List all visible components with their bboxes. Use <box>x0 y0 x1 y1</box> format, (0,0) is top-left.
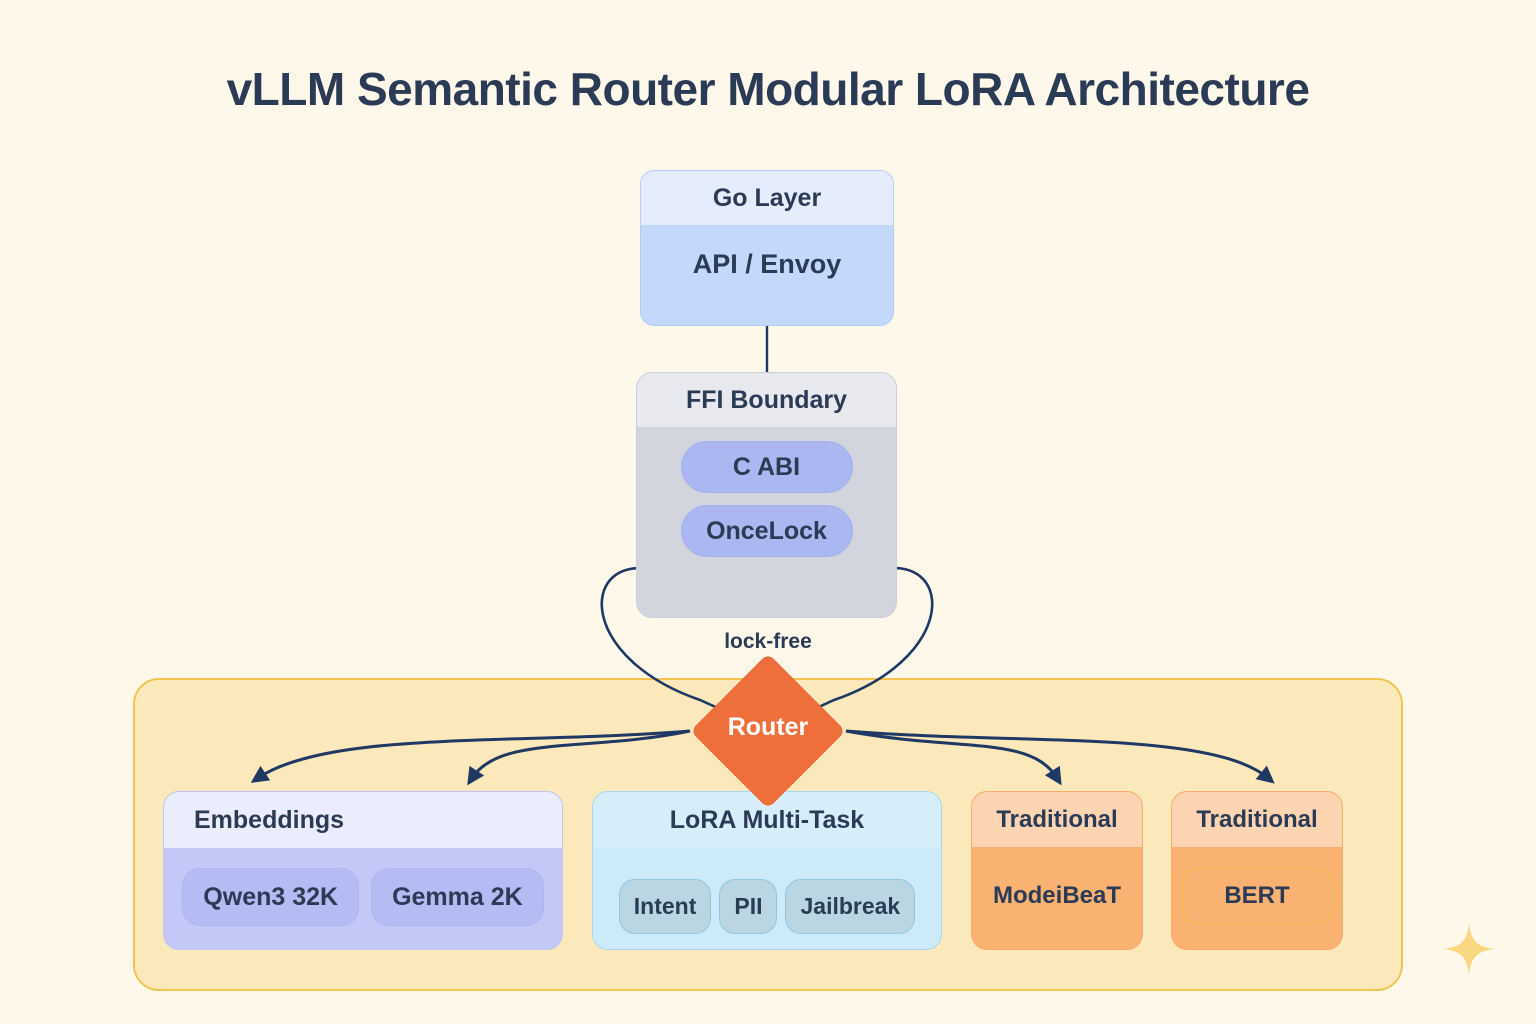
node-ffi-boundary[interactable]: FFI Boundary C ABI OnceLock <box>636 372 897 618</box>
group-traditional-1[interactable]: Traditional ModeiBeaT <box>971 791 1143 950</box>
node-router[interactable]: Router <box>684 675 852 787</box>
group-lora-multi-task[interactable]: LoRA Multi-Task Intent PII Jailbreak <box>592 791 942 950</box>
lora-item-pii[interactable]: PII <box>719 879 777 934</box>
lora-item-intent[interactable]: Intent <box>619 879 712 934</box>
ffi-boundary-header: FFI Boundary <box>637 373 896 427</box>
go-layer-header: Go Layer <box>641 171 893 225</box>
ffi-item-c-abi[interactable]: C ABI <box>681 441 853 493</box>
diagram-canvas: vLLM Semantic Router Modular LoRA Archit… <box>0 0 1536 1024</box>
traditional-2-items: BERT <box>1172 847 1342 945</box>
group-embeddings[interactable]: Embeddings Qwen3 32K Gemma 2K <box>163 791 563 950</box>
embeddings-item-qwen3[interactable]: Qwen3 32K <box>182 868 359 926</box>
page-title: vLLM Semantic Router Modular LoRA Archit… <box>0 62 1536 116</box>
group-traditional-2[interactable]: Traditional BERT <box>1171 791 1343 950</box>
traditional-1-items: ModeiBeaT <box>972 847 1142 945</box>
traditional-2-header: Traditional <box>1172 792 1342 847</box>
traditional-1-item-modeibeat[interactable]: ModeiBeaT <box>993 882 1121 910</box>
edge-label-lock-free: lock-free <box>0 630 1536 654</box>
router-label: Router <box>684 713 852 742</box>
ffi-boundary-items: C ABI OnceLock <box>637 427 896 557</box>
traditional-1-header: Traditional <box>972 792 1142 847</box>
embeddings-items: Qwen3 32K Gemma 2K <box>164 848 562 946</box>
sparkle-icon <box>1441 921 1497 977</box>
lora-items: Intent PII Jailbreak <box>593 848 941 946</box>
node-go-layer[interactable]: Go Layer API / Envoy <box>640 170 894 326</box>
ffi-item-oncelock[interactable]: OnceLock <box>681 505 853 557</box>
embeddings-item-gemma[interactable]: Gemma 2K <box>371 868 544 926</box>
traditional-2-item-bert[interactable]: BERT <box>1181 868 1334 924</box>
go-layer-body: API / Envoy <box>641 225 893 304</box>
lora-item-jailbreak[interactable]: Jailbreak <box>785 879 915 934</box>
embeddings-header: Embeddings <box>164 792 562 848</box>
